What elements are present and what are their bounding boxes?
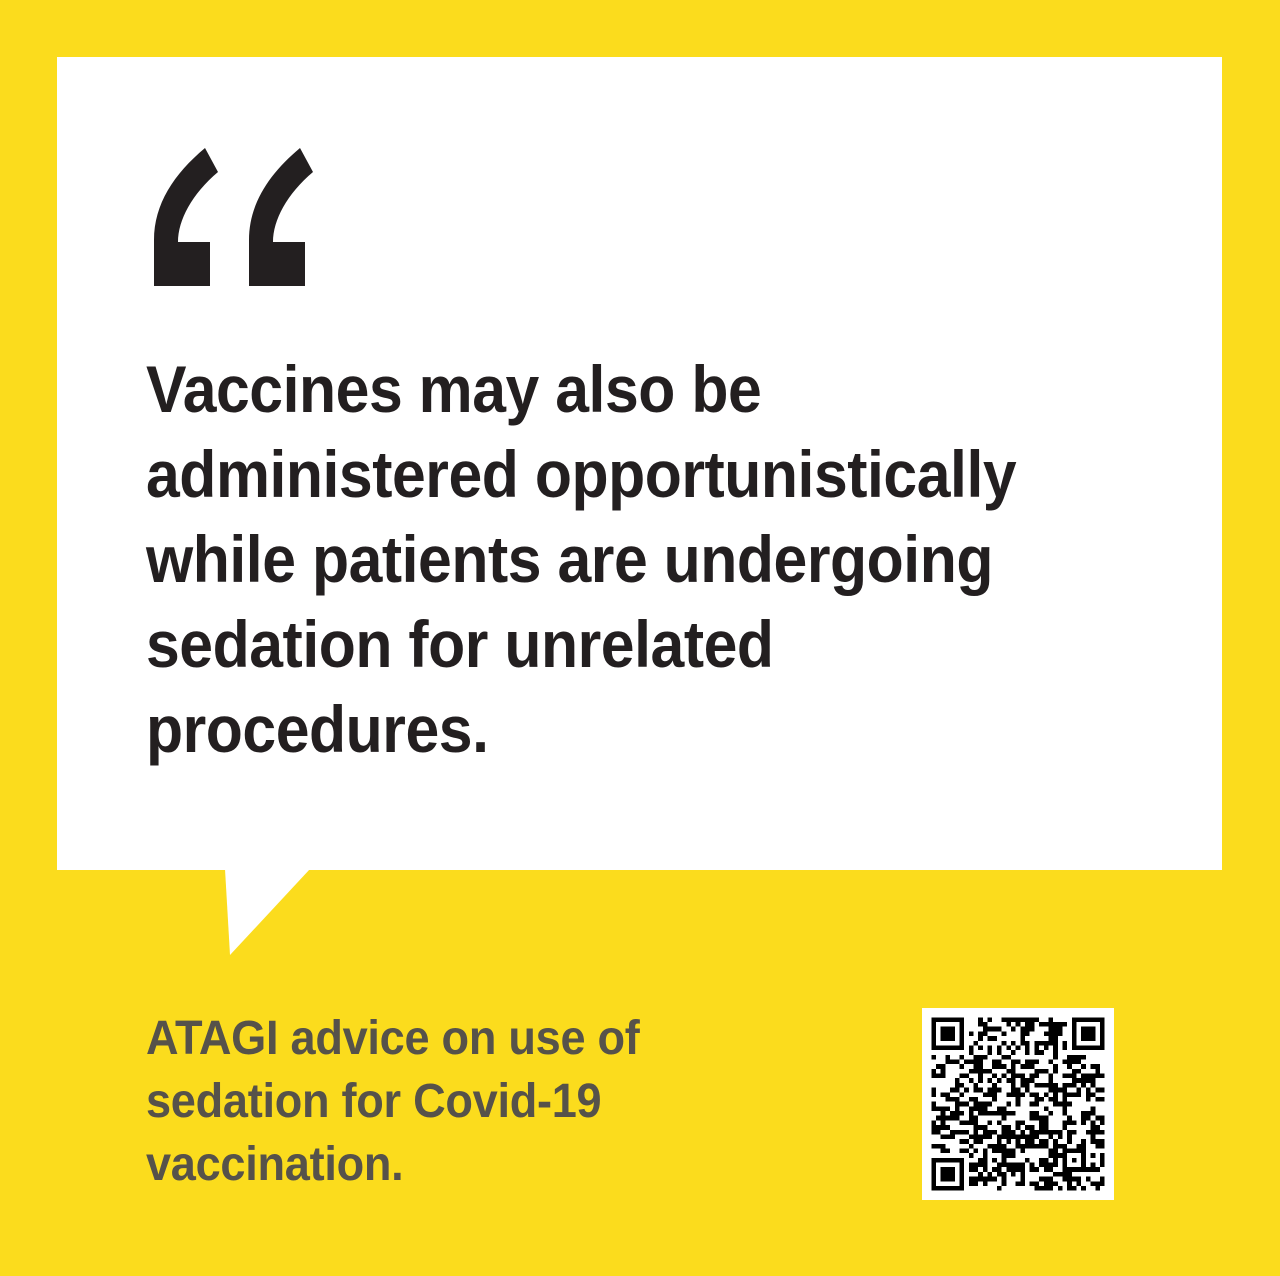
quote-text: Vaccines may also be administered opport… [146,347,1075,772]
qr-code[interactable] [922,1008,1114,1200]
poster-canvas: Vaccines may also be administered opport… [0,0,1280,1276]
caption-line: sedation for Covid-19 [146,1070,785,1133]
quotation-mark-icon [148,148,318,290]
caption-line: ATAGI advice on use of [146,1007,785,1070]
quote-line: Vaccines may also be [146,347,1075,432]
quote-line: administered opportunistically [146,432,1075,517]
caption-line: vaccination. [146,1133,785,1196]
quote-line: procedures. [146,687,1075,772]
speech-bubble-tail [225,869,315,959]
source-caption: ATAGI advice on use of sedation for Covi… [146,1007,785,1196]
quote-line: sedation for unrelated [146,602,1075,687]
quote-line: while patients are undergoing [146,517,1075,602]
